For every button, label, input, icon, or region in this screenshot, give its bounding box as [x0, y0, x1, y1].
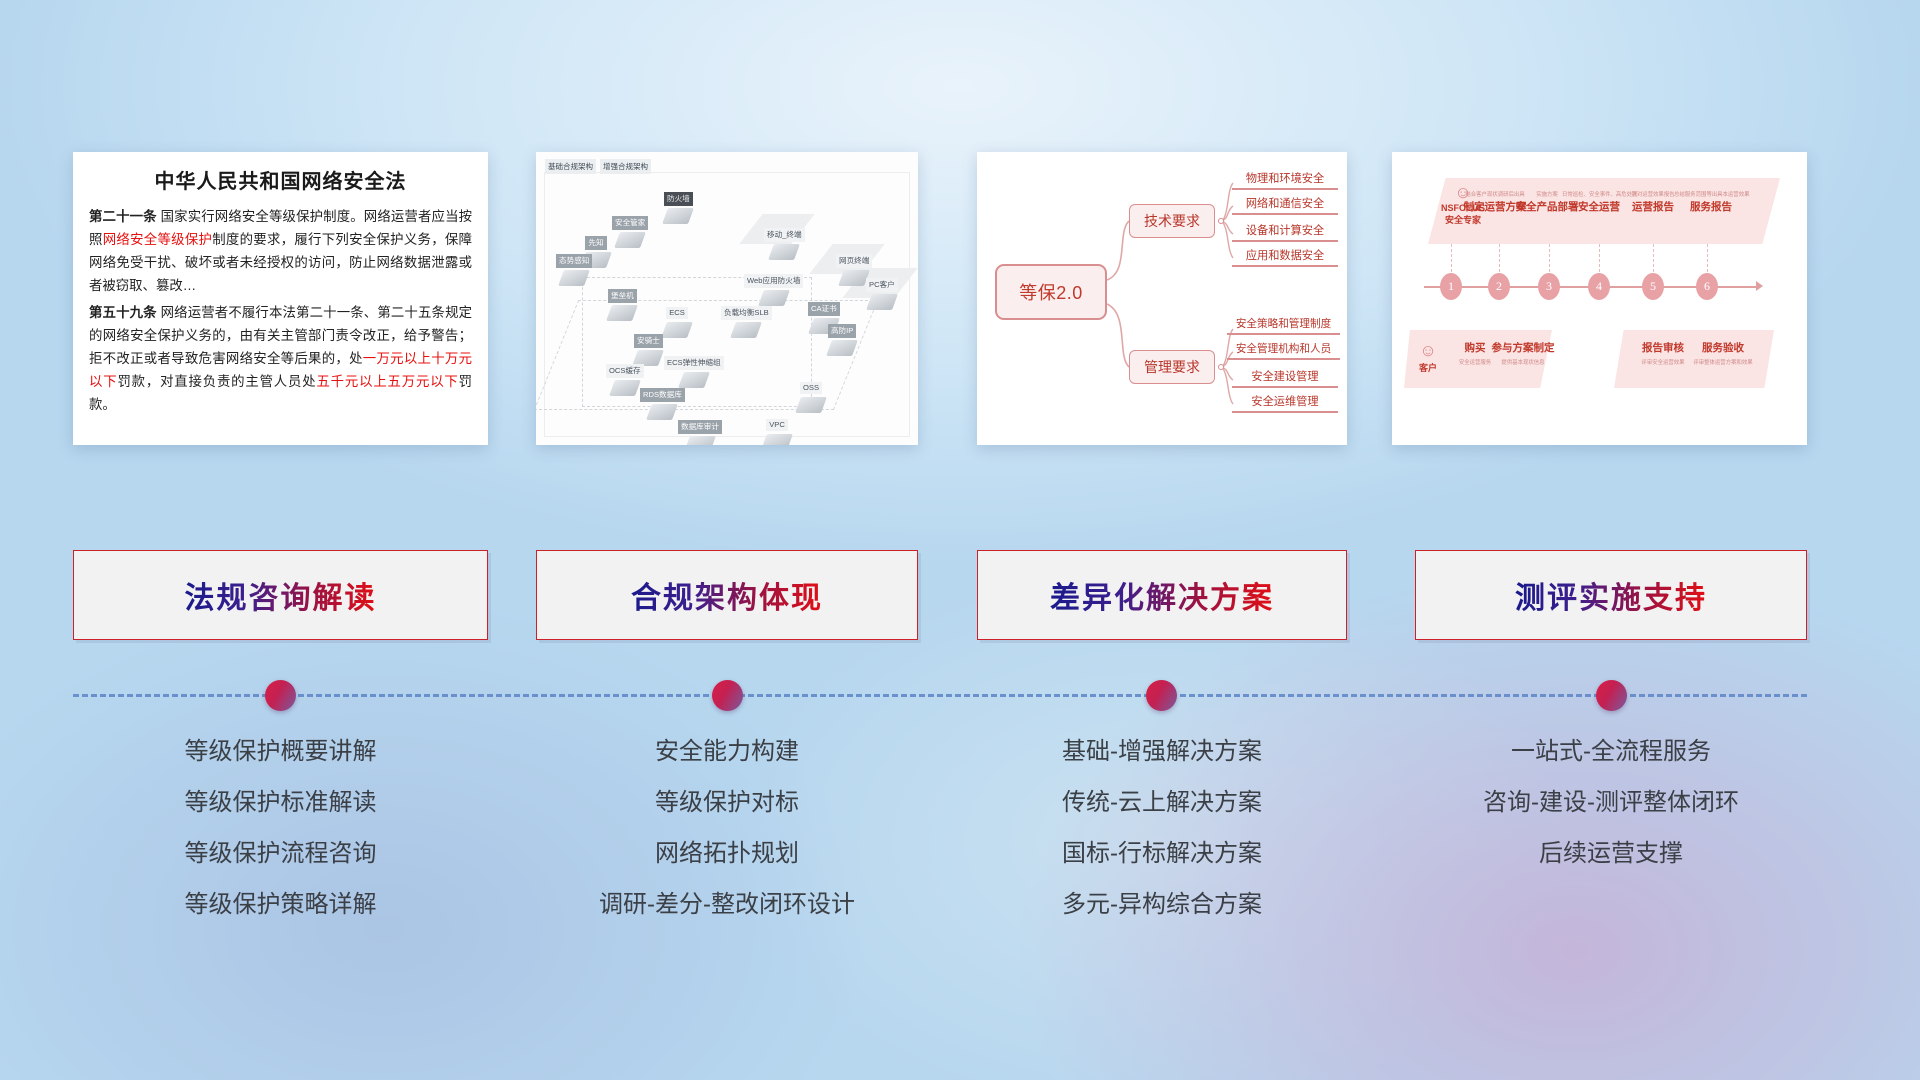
mindmap-canvas: 等保2.0 技术要求 管理要求 物理和环境安全 网络和通信安全 设备和计算安全 … — [977, 152, 1347, 445]
architecture-node-icon — [730, 322, 762, 338]
architecture-node-icon — [661, 322, 693, 338]
architecture-node-icon — [614, 232, 646, 248]
architecture-node-icon — [684, 436, 716, 445]
mindmap-branch-tech: 技术要求 — [1129, 204, 1215, 238]
timeline-dot-1[interactable] — [265, 680, 296, 711]
mindmap-leaf-mgmt-3: 安全建设管理 — [1232, 368, 1338, 388]
nsfocus-axis-node[interactable]: 6 — [1696, 273, 1718, 300]
nsfocus-axis-node[interactable]: 1 — [1440, 273, 1462, 300]
nsfocus-bottom-stage: 服务验收评审整体运营方案和效果 — [1684, 340, 1762, 367]
nsfocus-axis-node[interactable]: 3 — [1538, 273, 1560, 300]
feature-item: 等级保护概要讲解 — [73, 740, 488, 764]
nsfocus-tick — [1599, 244, 1600, 272]
architecture-node-label: 高防IP — [828, 324, 856, 338]
timeline-dot-2[interactable] — [712, 680, 743, 711]
architecture-node-icon — [795, 397, 827, 413]
architecture-node-label: 网页终端 — [836, 254, 872, 268]
feature-item: 多元-异构综合方案 — [977, 893, 1347, 917]
architecture-node-label: OSS — [800, 382, 822, 394]
mindmap-collapse-icon-mgmt — [1218, 364, 1224, 370]
feature-item: 后续运营支撑 — [1415, 842, 1807, 866]
architecture-diagram-card: 基础合规架构 增强合规架构 防火墙安全管家先知态势感知堡垒机ECS安骑士OCS缓… — [536, 152, 918, 445]
nsfocus-bottom-stage-title: 服务验收 — [1684, 340, 1762, 355]
architecture-node: 防火墙 — [664, 188, 693, 224]
architecture-node: PC客户 — [866, 274, 898, 310]
nsfocus-bottom-stage-title: 参与方案制定 — [1484, 340, 1562, 355]
architecture-node-label: 态势感知 — [556, 254, 592, 268]
mindmap-root-node: 等保2.0 — [995, 264, 1107, 320]
feature-item: 等级保护流程咨询 — [73, 842, 488, 866]
law-body: 中华人民共和国网络安全法 第二十一条 国家实行网络安全等级保护制度。网络运营者应… — [73, 152, 488, 428]
headline-label-1: 法规咨询解读 — [185, 573, 377, 617]
headline-box-4[interactable]: 测评实施支持 — [1415, 550, 1807, 640]
architecture-node-icon — [826, 340, 858, 356]
architecture-node-label: ECS — [666, 307, 688, 319]
feature-item: 咨询-建设-测评整体闭环 — [1415, 791, 1807, 815]
nsfocus-bottom-stage-subtitle: 评审整体运营方案和效果 — [1684, 358, 1762, 366]
timeline-dashed-line — [73, 694, 1807, 697]
nsfocus-tick — [1451, 244, 1452, 272]
mindmap-leaf-mgmt-2: 安全管理机构和人员 — [1227, 341, 1340, 360]
nsfocus-expert-line2: 安全专家 — [1434, 213, 1492, 226]
article-59-part2: 罚款，对直接负责的主管人员处 — [117, 374, 316, 389]
feature-item: 等级保护策略详解 — [73, 893, 488, 917]
law-text-card: 中华人民共和国网络安全法 第二十一条 国家实行网络安全等级保护制度。网络运营者应… — [73, 152, 488, 445]
law-title: 中华人民共和国网络安全法 — [89, 165, 472, 194]
article-21-label: 第二十一条 — [89, 209, 157, 224]
mindmap-leaf-tech-2: 网络和通信安全 — [1232, 195, 1338, 215]
architecture-node-icon — [558, 270, 590, 286]
nsfocus-axis-node[interactable]: 4 — [1588, 273, 1610, 300]
nsfocus-axis-node[interactable]: 5 — [1642, 273, 1664, 300]
feature-list-2: 安全能力构建等级保护对标网络拓扑规划调研-差分-整改闭环设计 — [536, 740, 918, 944]
headline-label-3: 差异化解决方案 — [1050, 573, 1274, 617]
headline-box-2[interactable]: 合规架构体现 — [536, 550, 918, 640]
mindmap-collapse-icon-tech — [1218, 218, 1224, 224]
architecture-node-icon — [662, 208, 694, 224]
feature-item: 基础-增强解决方案 — [977, 740, 1347, 764]
architecture-node: OCS缓存 — [606, 360, 644, 396]
architecture-node-label: 先知 — [585, 236, 606, 250]
architecture-node: ECS弹性伸缩组 — [664, 352, 724, 388]
architecture-node: 移动_终端 — [764, 224, 805, 260]
architecture-node-icon — [678, 372, 710, 388]
mindmap-leaf-tech-4: 应用和数据安全 — [1232, 247, 1338, 267]
feature-item: 等级保护标准解读 — [73, 791, 488, 815]
nsfocus-timeline-card: ☺ NSFOCUS 安全专家 ☺ 客户 123456 结合客户现状调研后出具制定… — [1392, 152, 1807, 445]
feature-item: 一站式-全流程服务 — [1415, 740, 1807, 764]
nsfocus-bottom-stage-subtitle: 提供基本现状信息 — [1484, 358, 1562, 366]
headline-box-1[interactable]: 法规咨询解读 — [73, 550, 488, 640]
mindmap-leaf-mgmt-1: 安全策略和管理制度 — [1227, 316, 1340, 335]
feature-list-1: 等级保护概要讲解等级保护标准解读等级保护流程咨询等级保护策略详解 — [73, 740, 488, 944]
headline-label-2: 合规架构体现 — [631, 573, 823, 617]
architecture-node-label: 移动_终端 — [764, 228, 805, 242]
law-article-59: 第五十九条 网络运营者不履行本法第二十一条、第二十五条规定的网络安全保护义务的，… — [89, 301, 472, 416]
feature-item: 调研-差分-整改闭环设计 — [536, 893, 918, 917]
architecture-node: 数据库审计 — [678, 416, 722, 445]
architecture-node-label: OCS缓存 — [606, 364, 644, 378]
nsfocus-bottom-stage: 参与方案制定提供基本现状信息 — [1484, 340, 1562, 367]
architecture-node-icon — [606, 305, 638, 321]
mindmap-leaf-tech-1: 物理和环境安全 — [1232, 170, 1338, 190]
nsfocus-top-stage: 总结服务范围等出具本运营效果服务报告 — [1674, 190, 1748, 214]
architecture-node: 堡垒机 — [608, 285, 637, 321]
architecture-node-icon — [761, 434, 793, 445]
architecture-node-icon — [866, 294, 898, 310]
architecture-node-label: 安骑士 — [634, 334, 663, 348]
nsfocus-tick — [1653, 244, 1654, 272]
headline-box-3[interactable]: 差异化解决方案 — [977, 550, 1347, 640]
architecture-node-label: 数据库审计 — [678, 420, 722, 434]
architecture-node-label: 防火墙 — [664, 192, 693, 206]
nsfocus-axis-arrow-icon — [1756, 281, 1763, 291]
headline-label-4: 测评实施支持 — [1515, 573, 1707, 617]
timeline-dot-4[interactable] — [1596, 680, 1627, 711]
architecture-node: ECS — [664, 302, 690, 338]
architecture-canvas: 基础合规架构 增强合规架构 防火墙安全管家先知态势感知堡垒机ECS安骑士OCS缓… — [536, 152, 918, 445]
architecture-node-label: 负载均衡SLB — [721, 306, 772, 320]
architecture-node-icon — [646, 404, 678, 420]
architecture-node-icon — [609, 380, 641, 396]
architecture-node-label: PC客户 — [866, 278, 898, 292]
architecture-node-label: RDS数据库 — [640, 388, 685, 402]
mindmap-leaf-mgmt-4: 安全运维管理 — [1232, 393, 1338, 413]
mindmap-card: 等保2.0 技术要求 管理要求 物理和环境安全 网络和通信安全 设备和计算安全 … — [977, 152, 1347, 445]
article-21-highlight: 网络安全等级保护 — [103, 232, 213, 247]
architecture-node-icon — [768, 244, 800, 260]
feature-item: 安全能力构建 — [536, 740, 918, 764]
architecture-node-label: CA证书 — [808, 302, 840, 316]
feature-item: 网络拓扑规划 — [536, 842, 918, 866]
nsfocus-tick — [1707, 244, 1708, 272]
architecture-node-label: VPC — [766, 419, 788, 431]
architecture-node: 高防IP — [828, 320, 856, 356]
article-59-highlight-2: 五千元以上五万元以下 — [316, 374, 458, 389]
architecture-node: RDS数据库 — [640, 384, 685, 420]
nsfocus-top-stage-title: 服务报告 — [1674, 199, 1748, 214]
architecture-node-label: Web应用防火墙 — [744, 274, 803, 288]
feature-list-3: 基础-增强解决方案传统-云上解决方案国标-行标解决方案多元-异构综合方案 — [977, 740, 1347, 944]
architecture-node: Web应用防火墙 — [744, 270, 803, 306]
architecture-node-label: ECS弹性伸缩组 — [664, 356, 724, 370]
nsfocus-top-stage-subtitle: 总结服务范围等出具本运营效果 — [1674, 190, 1748, 198]
feature-item: 等级保护对标 — [536, 791, 918, 815]
timeline-dot-3[interactable] — [1146, 680, 1177, 711]
architecture-node: 态势感知 — [556, 250, 592, 286]
nsfocus-axis-node[interactable]: 2 — [1488, 273, 1510, 300]
nsfocus-canvas: ☺ NSFOCUS 安全专家 ☺ 客户 123456 结合客户现状调研后出具制定… — [1392, 152, 1807, 445]
architecture-node: 安全管家 — [612, 212, 648, 248]
mindmap-leaf-tech-3: 设备和计算安全 — [1232, 222, 1338, 242]
mindmap-branch-mgmt: 管理要求 — [1129, 350, 1215, 384]
architecture-node-label: 堡垒机 — [608, 289, 637, 303]
nsfocus-tick — [1549, 244, 1550, 272]
article-59-label: 第五十九条 — [89, 305, 157, 320]
feature-item: 传统-云上解决方案 — [977, 791, 1347, 815]
architecture-node: OSS — [798, 377, 824, 413]
architecture-node: VPC — [764, 414, 790, 445]
architecture-node: 负载均衡SLB — [721, 302, 772, 338]
law-article-21: 第二十一条 国家实行网络安全等级保护制度。网络运营者应当按照网络安全等级保护制度… — [89, 205, 472, 297]
nsfocus-tick — [1499, 244, 1500, 272]
architecture-node-label: 安全管家 — [612, 216, 648, 230]
feature-list-4: 一站式-全流程服务咨询-建设-测评整体闭环后续运营支撑 — [1415, 740, 1807, 893]
feature-item: 国标-行标解决方案 — [977, 842, 1347, 866]
slide-root: 中华人民共和国网络安全法 第二十一条 国家实行网络安全等级保护制度。网络运营者应… — [0, 0, 1920, 1080]
